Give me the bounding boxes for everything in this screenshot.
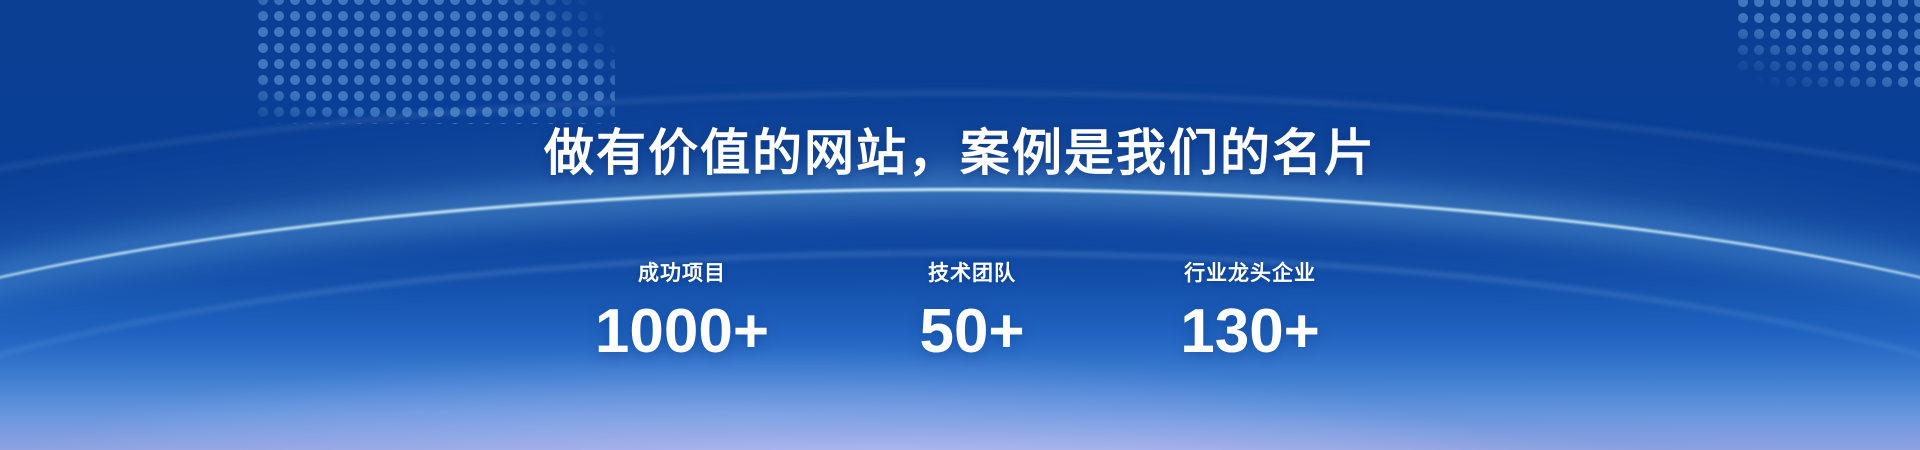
stat-value: 1000+ bbox=[595, 301, 769, 363]
banner-headline: 做有价值的网站，案例是我们的名片 bbox=[544, 113, 1376, 185]
hero-banner: 做有价值的网站，案例是我们的名片 成功项目 1000+ 技术团队 50+ 行业龙… bbox=[0, 0, 1920, 450]
stat-value: 130+ bbox=[1180, 301, 1320, 363]
stat-label: 技术团队 bbox=[928, 257, 1016, 287]
stat-item-enterprises: 行业龙头企业 130+ bbox=[1175, 257, 1325, 363]
stat-item-team: 技术团队 50+ bbox=[897, 257, 1047, 363]
stat-label: 成功项目 bbox=[638, 257, 726, 287]
stats-row: 成功项目 1000+ 技术团队 50+ 行业龙头企业 130+ bbox=[595, 257, 1325, 363]
banner-content: 做有价值的网站，案例是我们的名片 成功项目 1000+ 技术团队 50+ 行业龙… bbox=[0, 0, 1920, 450]
stat-item-projects: 成功项目 1000+ bbox=[595, 257, 769, 363]
stat-value: 50+ bbox=[919, 301, 1024, 363]
stat-label: 行业龙头企业 bbox=[1184, 257, 1316, 287]
